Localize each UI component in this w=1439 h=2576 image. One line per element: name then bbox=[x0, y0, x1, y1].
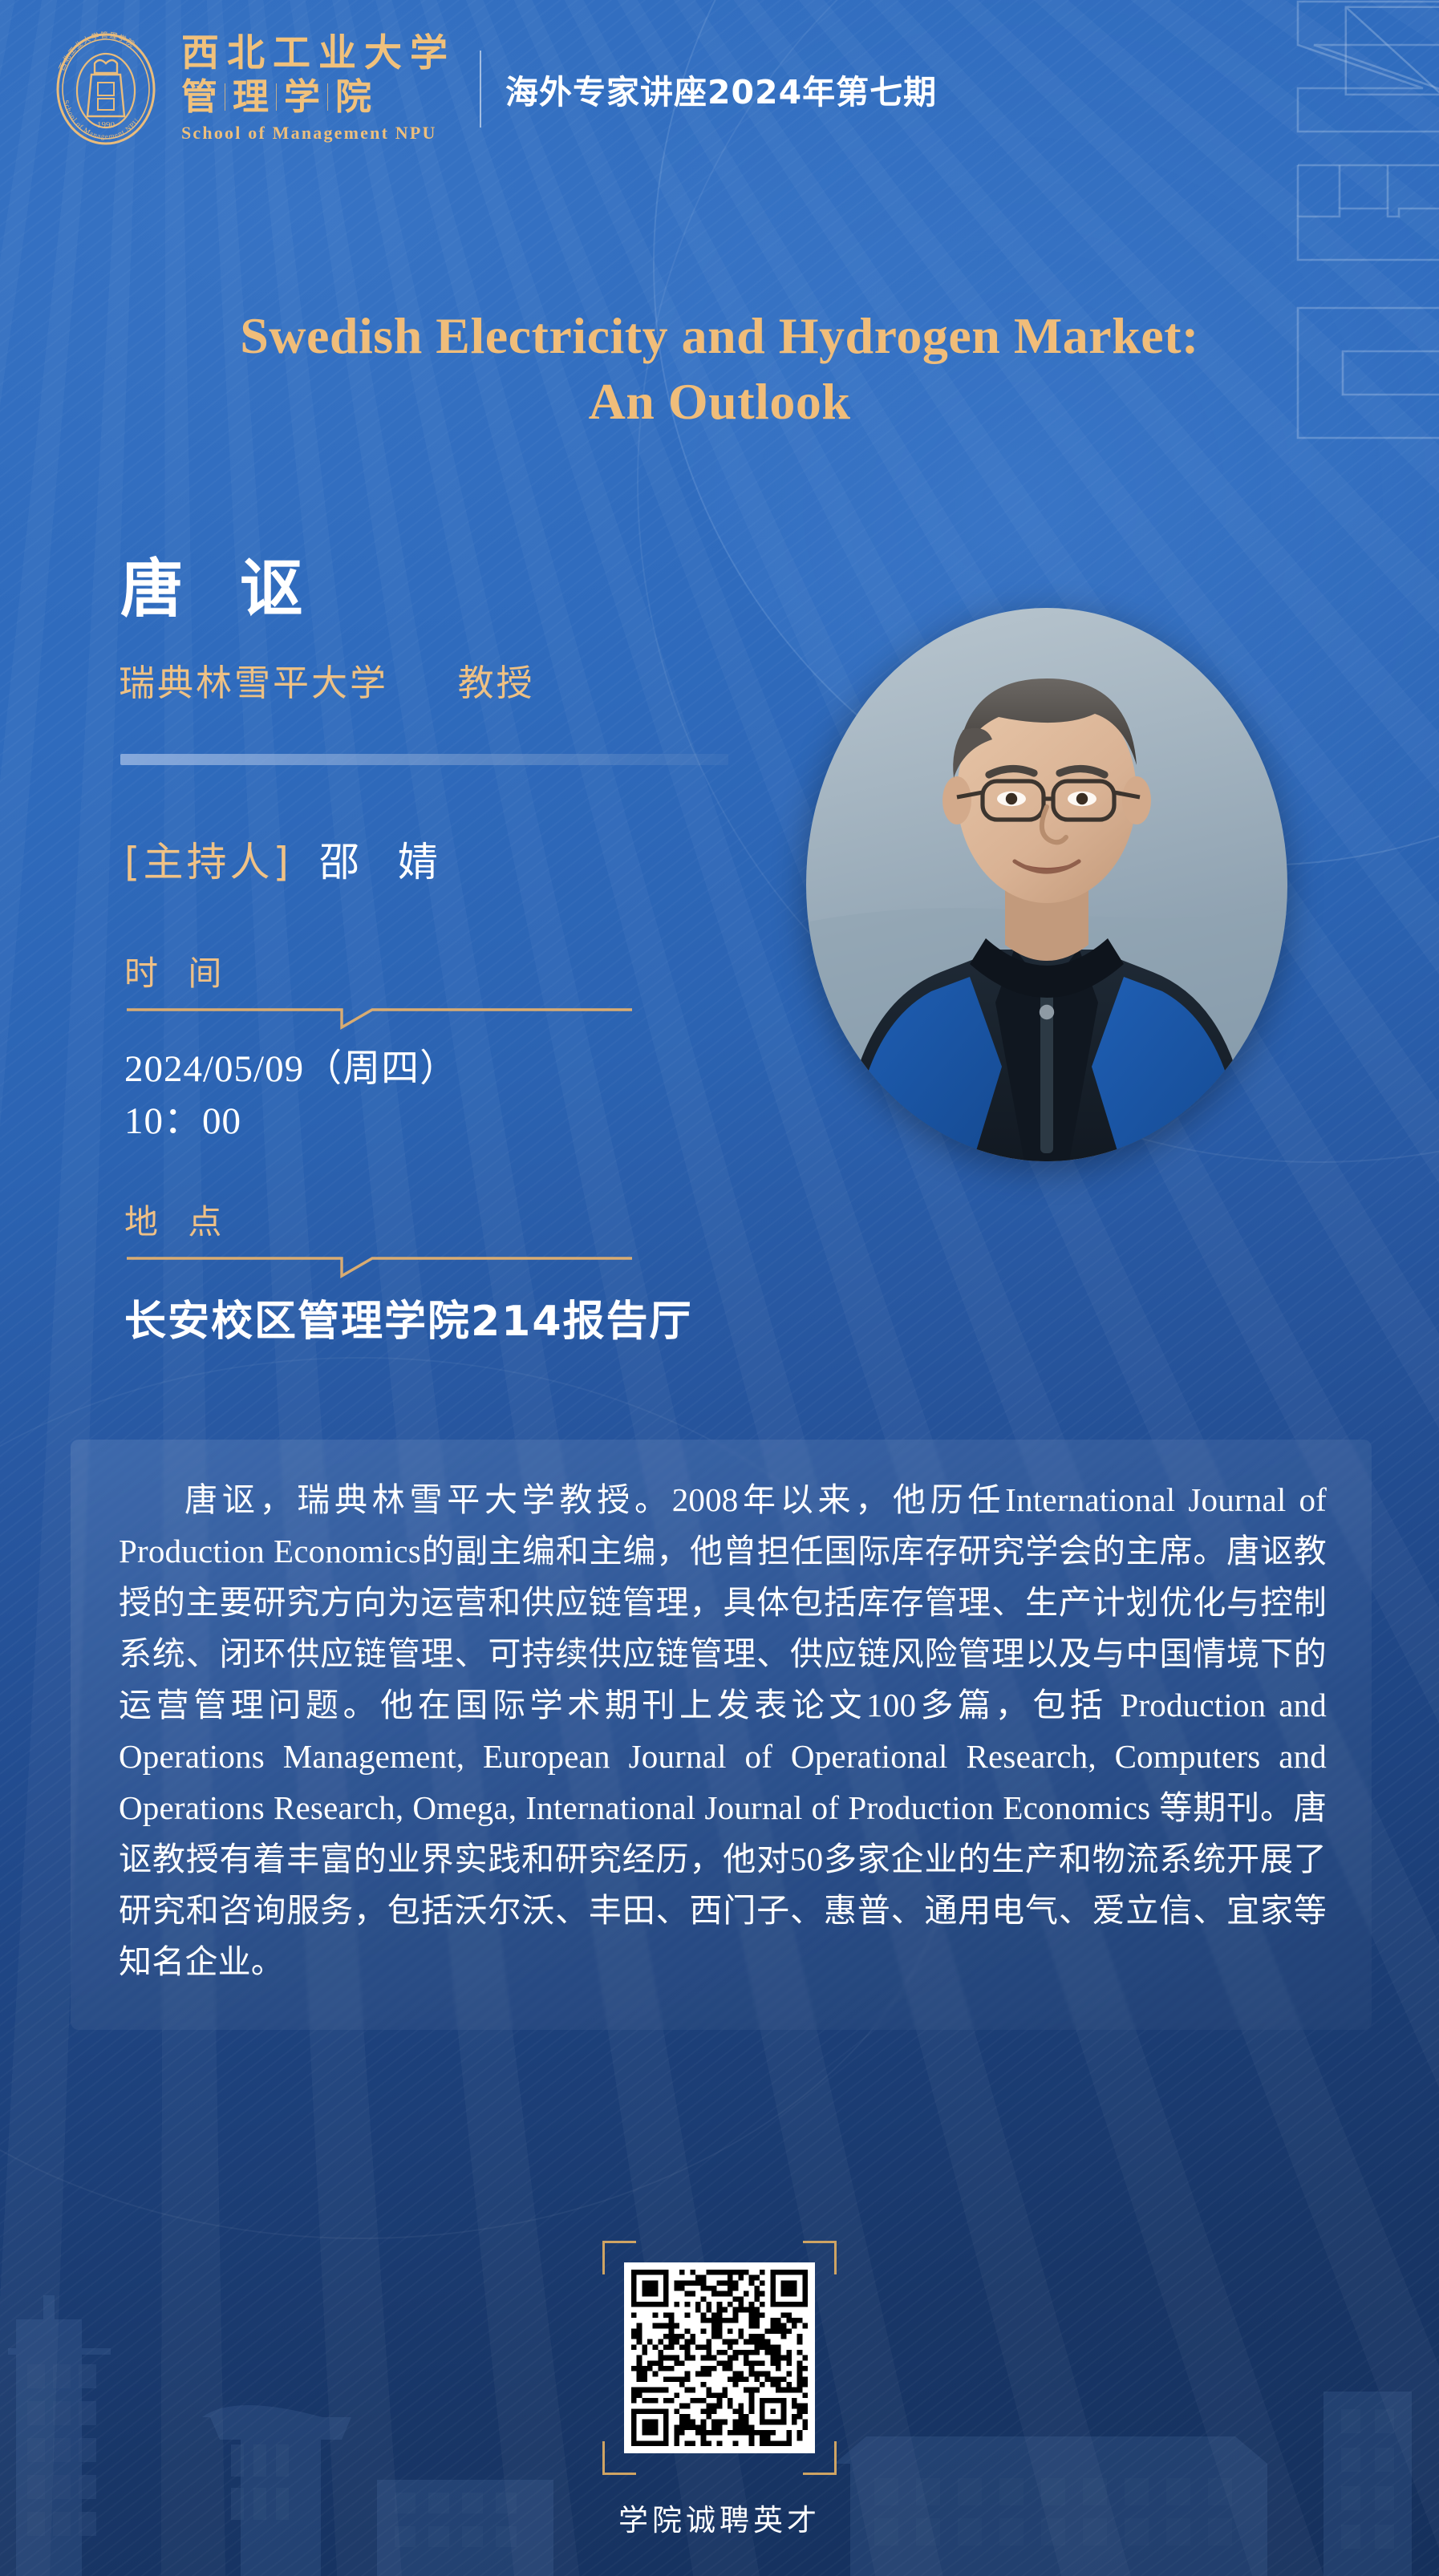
time-value: 2024/05/09（周四） 10：00 bbox=[124, 1043, 632, 1148]
school-char-4: 院 bbox=[335, 77, 371, 117]
title-line-1: Swedish Electricity and Hydrogen Market: bbox=[32, 303, 1407, 369]
place-notch-divider bbox=[127, 1247, 632, 1281]
qr-corner-bottom-left bbox=[602, 2441, 636, 2475]
time-label: 时 间 bbox=[124, 946, 632, 995]
qr-frame bbox=[602, 2241, 837, 2475]
university-name-cn: 西北工业大学 bbox=[181, 34, 456, 72]
school-name-en: School of Management NPU bbox=[181, 123, 456, 144]
logo-separator-3 bbox=[327, 83, 328, 111]
header-divider bbox=[480, 51, 481, 128]
place-label: 地 点 bbox=[124, 1195, 693, 1244]
school-name-cn: 管 理 学 院 bbox=[181, 77, 456, 117]
npu-school-crest-icon: 1990 西北工业大学管理学院 School of Management NPU bbox=[45, 28, 167, 150]
time-block: 时 间 2024/05/09（周四） 10：00 bbox=[124, 946, 632, 1148]
host-row: [主持人] 邵 婧 bbox=[124, 830, 451, 888]
qr-corner-top-left bbox=[602, 2241, 636, 2274]
speaker-affiliation-row: 瑞典林雪平大学 教授 bbox=[119, 654, 535, 706]
logo-separator-2 bbox=[276, 83, 277, 111]
speaker-divider-bar bbox=[120, 754, 728, 765]
qr-code-icon[interactable] bbox=[624, 2262, 815, 2453]
host-label: [主持人] bbox=[124, 830, 292, 888]
speaker-bio-text: 唐讴，瑞典林雪平大学教授。2008年以来，他历任International Jo… bbox=[119, 1475, 1327, 1988]
speaker-portrait bbox=[806, 608, 1287, 1161]
crest-year: 1990 bbox=[97, 120, 116, 130]
poster-header: 1990 西北工业大学管理学院 School of Management NPU… bbox=[45, 37, 937, 141]
qr-code-matrix bbox=[631, 2270, 808, 2446]
speaker-affiliation: 瑞典林雪平大学 bbox=[119, 662, 388, 704]
speaker-bio-card: 唐讴，瑞典林雪平大学教授。2008年以来，他历任International Jo… bbox=[71, 1440, 1372, 2030]
speaker-rank: 教授 bbox=[458, 662, 535, 704]
place-value: 长安校区管理学院214报告厅 bbox=[124, 1294, 693, 1351]
qr-corner-bottom-right bbox=[803, 2441, 837, 2475]
speaker-name: 唐 讴 bbox=[120, 539, 320, 629]
school-logotype: 西北工业大学 管 理 学 院 School of Management NPU bbox=[181, 34, 456, 144]
school-char-3: 学 bbox=[284, 77, 320, 117]
svg-text:西北工业大学管理学院: 西北工业大学管理学院 bbox=[58, 30, 137, 72]
lecture-poster: 1990 西北工业大学管理学院 School of Management NPU… bbox=[0, 0, 1439, 2576]
qr-footer: 学院诚聘英才 bbox=[547, 2241, 892, 2539]
school-char-2: 理 bbox=[233, 77, 269, 117]
qr-caption: 学院诚聘英才 bbox=[618, 2496, 821, 2539]
title-line-2: An Outlook bbox=[32, 369, 1407, 435]
place-block: 地 点 长安校区管理学院214报告厅 bbox=[124, 1195, 693, 1351]
lecture-series-title: 海外专家讲座2024年第七期 bbox=[505, 65, 937, 113]
logo-separator-1 bbox=[225, 83, 225, 111]
qr-corner-top-right bbox=[803, 2241, 837, 2274]
crest-ring-cn: 西北工业大学管理学院 bbox=[58, 30, 137, 72]
time-notch-divider bbox=[127, 998, 632, 1032]
poster-title: Swedish Electricity and Hydrogen Market:… bbox=[0, 303, 1439, 435]
speaker-portrait-image bbox=[806, 608, 1287, 1161]
school-char-1: 管 bbox=[181, 77, 217, 117]
host-name: 邵 婧 bbox=[319, 830, 451, 888]
